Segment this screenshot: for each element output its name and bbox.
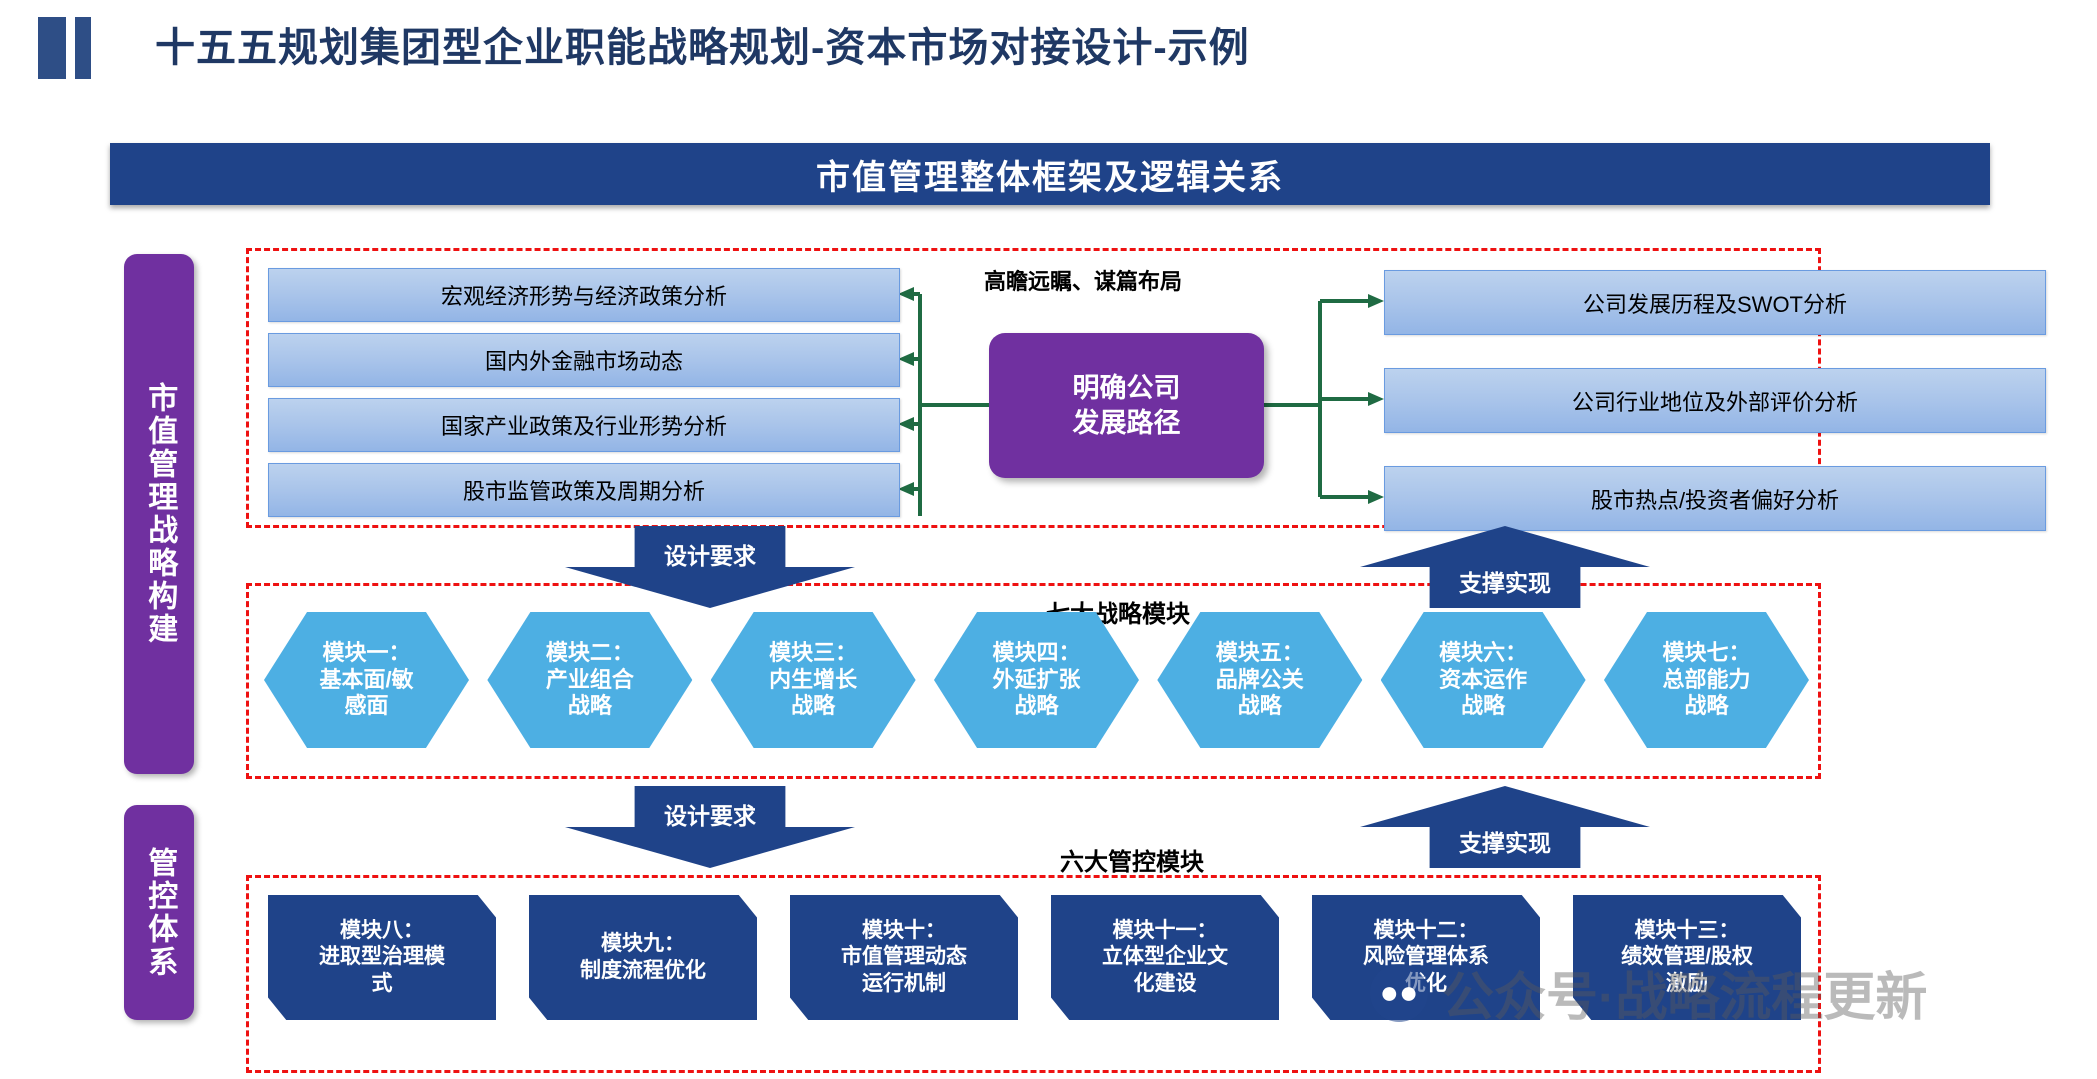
core-development-path-box[interactable]: 明确公司 发展路径	[989, 333, 1264, 478]
core-line-2: 发展路径	[1073, 406, 1181, 441]
module-title: 模块七：	[1662, 640, 1750, 667]
module-line-2: 战略	[1684, 693, 1728, 720]
module-title: 模块十：	[862, 918, 946, 944]
banner-title: 市值管理整体框架及逻辑关系	[816, 150, 1284, 199]
title-mark-wide	[38, 17, 66, 79]
caption-six-control-modules: 六大管控模块	[1060, 842, 1204, 877]
strategy-module-3[interactable]: 模块三： 内生增长 战略	[711, 612, 916, 748]
control-module-8[interactable]: 模块八： 进取型治理模 式	[268, 895, 496, 1020]
strategy-module-7[interactable]: 模块七： 总部能力 战略	[1604, 612, 1809, 748]
module-title: 模块十一：	[1113, 918, 1218, 944]
module-title: 模块八：	[340, 918, 424, 944]
strategy-module-5[interactable]: 模块五： 品牌公关 战略	[1157, 612, 1362, 748]
module-line-2: 激励	[1666, 971, 1708, 997]
strategy-module-4[interactable]: 模块四： 外延扩张 战略	[934, 612, 1139, 748]
module-title: 模块五：	[1216, 640, 1304, 667]
module-line-2: 战略	[568, 693, 612, 720]
module-line-1: 立体型企业文	[1102, 944, 1228, 970]
module-title: 模块四：	[992, 640, 1080, 667]
module-line-1: 产业组合	[546, 667, 634, 694]
module-line-2: 战略	[1238, 693, 1282, 720]
module-line-2: 运行机制	[862, 971, 946, 997]
strategy-module-6[interactable]: 模块六： 资本运作 战略	[1381, 612, 1586, 748]
arrow-label: 设计要求	[664, 797, 756, 831]
control-module-row: 模块八： 进取型治理模 式 模块九： 制度流程优化 模块十： 市值管理动态 运行…	[268, 895, 1801, 1020]
module-line-1: 总部能力	[1662, 667, 1750, 694]
title-decoration-marks	[38, 17, 91, 79]
module-title: 模块十二：	[1374, 918, 1479, 944]
control-module-12[interactable]: 模块十二： 风险管理体系 优化	[1312, 895, 1540, 1020]
module-line-1: 绩效管理/股权	[1621, 944, 1753, 970]
module-line-2: 感面	[344, 693, 388, 720]
arrow-label: 支撑实现	[1459, 824, 1551, 858]
strategy-module-1[interactable]: 模块一： 基本面/敏 感面	[264, 612, 469, 748]
module-line-2: 战略	[1461, 693, 1505, 720]
module-title: 模块九：	[601, 931, 685, 957]
sidebar-label-strategy-construction: 市值管理战略构建	[124, 254, 194, 774]
control-module-13[interactable]: 模块十三： 绩效管理/股权 激励	[1573, 895, 1801, 1020]
module-title: 模块二：	[546, 640, 634, 667]
module-line-1: 进取型治理模	[319, 944, 445, 970]
title-mark-narrow	[75, 17, 91, 79]
module-line-1: 内生增长	[769, 667, 857, 694]
module-title: 模块三：	[769, 640, 857, 667]
arrow-label: 设计要求	[664, 537, 756, 571]
module-line-1: 风险管理体系	[1363, 944, 1489, 970]
control-module-10[interactable]: 模块十： 市值管理动态 运行机制	[790, 895, 1018, 1020]
arrow-label: 支撑实现	[1459, 564, 1551, 598]
page-header: 十五五规划集团型企业职能战略规划-资本市场对接设计-示例	[0, 0, 2097, 100]
module-line-1: 市值管理动态	[841, 944, 967, 970]
module-line-2: 战略	[1014, 693, 1058, 720]
analysis-box-macro-economy[interactable]: 宏观经济形势与经济政策分析	[268, 268, 900, 322]
module-title: 模块十三：	[1635, 918, 1740, 944]
module-line-1: 制度流程优化	[580, 958, 706, 984]
arrow-design-requirement-bottom: 设计要求	[565, 786, 855, 868]
analysis-box-industry-position[interactable]: 公司行业地位及外部评价分析	[1384, 368, 2046, 433]
framework-banner: 市值管理整体框架及逻辑关系	[110, 143, 1990, 205]
arrow-support-realization-bottom: 支撑实现	[1360, 786, 1650, 868]
module-title: 模块一：	[322, 640, 410, 667]
module-line-1: 品牌公关	[1216, 667, 1304, 694]
control-module-9[interactable]: 模块九： 制度流程优化	[529, 895, 757, 1020]
module-line-1: 基本面/敏	[319, 667, 413, 694]
module-line-2: 优化	[1405, 971, 1447, 997]
module-line-1: 外延扩张	[992, 667, 1080, 694]
analysis-box-company-history-swot[interactable]: 公司发展历程及SWOT分析	[1384, 270, 2046, 335]
module-line-1: 资本运作	[1439, 667, 1527, 694]
strategy-module-2[interactable]: 模块二： 产业组合 战略	[487, 612, 692, 748]
module-title: 模块六：	[1439, 640, 1527, 667]
control-module-11[interactable]: 模块十一： 立体型企业文 化建设	[1051, 895, 1279, 1020]
module-line-2: 式	[372, 971, 393, 997]
strategy-module-row: 模块一： 基本面/敏 感面 模块二： 产业组合 战略 模块三： 内生增长 战略 …	[264, 612, 1809, 748]
sidebar-label-control-system: 管控体系	[124, 805, 194, 1020]
page-title: 十五五规划集团型企业职能战略规划-资本市场对接设计-示例	[155, 15, 1250, 73]
core-line-1: 明确公司	[1073, 371, 1181, 406]
module-line-2: 化建设	[1134, 971, 1197, 997]
analysis-box-investor-preference[interactable]: 股市热点/投资者偏好分析	[1384, 466, 2046, 531]
core-caption: 高瞻远瞩、谋篇布局	[984, 268, 1219, 296]
module-line-2: 战略	[791, 693, 835, 720]
analysis-box-stock-regulation[interactable]: 股市监管政策及周期分析	[268, 463, 900, 517]
analysis-box-industry-policy[interactable]: 国家产业政策及行业形势分析	[268, 398, 900, 452]
analysis-box-financial-markets[interactable]: 国内外金融市场动态	[268, 333, 900, 387]
